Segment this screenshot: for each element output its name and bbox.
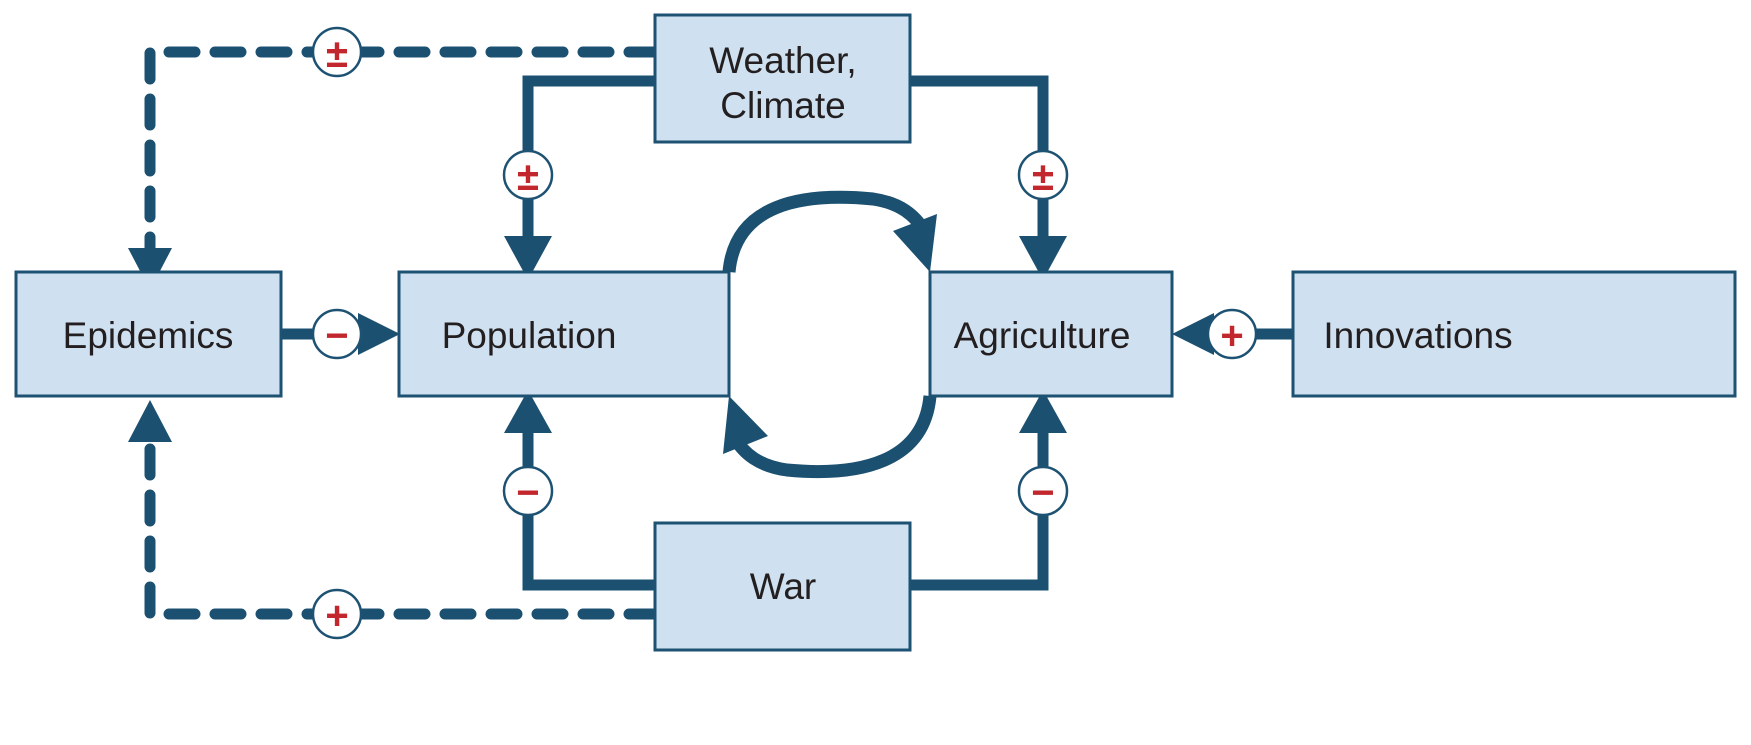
node-population-label: Population [442, 315, 617, 356]
sign-badge-epidemics-population: − [313, 310, 361, 358]
sign-badge-weather-agriculture: ± [1019, 151, 1067, 199]
sign-badge-war-epidemics: + [313, 590, 361, 638]
sign-label-war-population: − [516, 471, 539, 515]
node-innovations[interactable]: Innovations [1293, 272, 1735, 396]
edge-population-to-agriculture-loop [729, 197, 937, 272]
sign-badge-weather-epidemics: ± [313, 28, 361, 76]
sign-badge-war-agriculture: − [1019, 467, 1067, 515]
node-weather-label-line1: Weather, [709, 40, 856, 81]
node-weather-label-line2: Climate [720, 85, 845, 126]
arrowhead-epidemics-population [358, 313, 400, 355]
sign-label-war-agriculture: − [1031, 471, 1054, 515]
sign-label-epidemics-population: − [325, 314, 348, 358]
causal-loop-diagram: Weather, Climate Epidemics Population Ag… [0, 0, 1751, 745]
node-epidemics-label: Epidemics [63, 315, 234, 356]
node-epidemics[interactable]: Epidemics [16, 272, 281, 396]
sign-label-war-epidemics: + [325, 594, 348, 638]
node-war-label: War [750, 566, 816, 607]
node-war[interactable]: War [655, 523, 910, 650]
edge-agriculture-to-population-loop [723, 396, 930, 472]
node-weather-climate[interactable]: Weather, Climate [655, 15, 910, 142]
arrowhead-war-epidemics [128, 400, 172, 442]
arrowhead-loop-to-agriculture [893, 214, 937, 272]
node-agriculture-label: Agriculture [954, 315, 1131, 356]
edge-weather-to-epidemics [128, 52, 655, 290]
sign-badge-weather-population: ± [504, 151, 552, 199]
node-population[interactable]: Population [399, 272, 729, 396]
sign-label-weather-agriculture: ± [1032, 155, 1054, 199]
sign-label-innovations-agriculture: + [1220, 314, 1243, 358]
sign-badge-innovations-agriculture: + [1208, 310, 1256, 358]
sign-label-weather-population: ± [517, 155, 539, 199]
node-innovations-label: Innovations [1323, 315, 1512, 356]
node-agriculture[interactable]: Agriculture [930, 272, 1172, 396]
sign-label-weather-epidemics: ± [326, 32, 348, 76]
sign-badge-war-population: − [504, 467, 552, 515]
